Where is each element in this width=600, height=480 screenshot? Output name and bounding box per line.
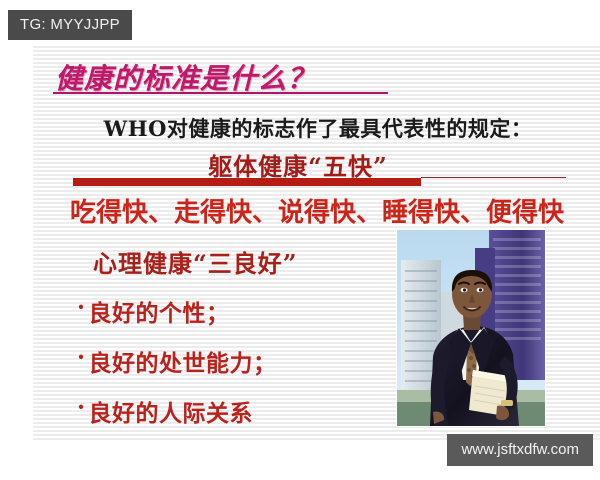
bullet-dot-icon: · [77,346,86,369]
three-good-bullet-list: · 良好的个性； · 良好的处世能力； · 良好的人际关系 [77,294,377,440]
bullet-dot-icon: · [77,396,86,419]
list-item-label: 良好的人际关系 [89,394,254,428]
list-item-label: 良好的个性； [89,294,230,328]
who-definition-line: WHO对健康的标志作了最具代表性的规定： [58,113,578,143]
tg-watermark-badge: TG: MYYJJPP [8,10,132,40]
businessman-photo [397,230,545,426]
bullet-dot-icon: · [77,296,86,319]
list-item: · 良好的人际关系 [77,394,377,428]
list-item-label: 良好的处世能力； [89,344,277,378]
five-fast-list-line: 吃得快、走得快、说得快、睡得快、便得快 [37,192,597,229]
list-item: · 良好的处世能力； [77,344,377,378]
slide-title: 健康的标准是什么？ [55,57,316,97]
mental-health-heading: 心理健康“三良好” [93,244,298,279]
site-watermark-badge: www.jsftxdfw.com [447,434,593,466]
title-underline-rule [53,92,388,94]
thin-divider-rule [421,177,566,178]
red-divider-bar [73,178,421,186]
presentation-slide: 健康的标准是什么？ WHO对健康的标志作了最具代表性的规定： 躯体健康“五快” … [33,44,600,440]
list-item: · 良好的个性； [77,294,377,328]
